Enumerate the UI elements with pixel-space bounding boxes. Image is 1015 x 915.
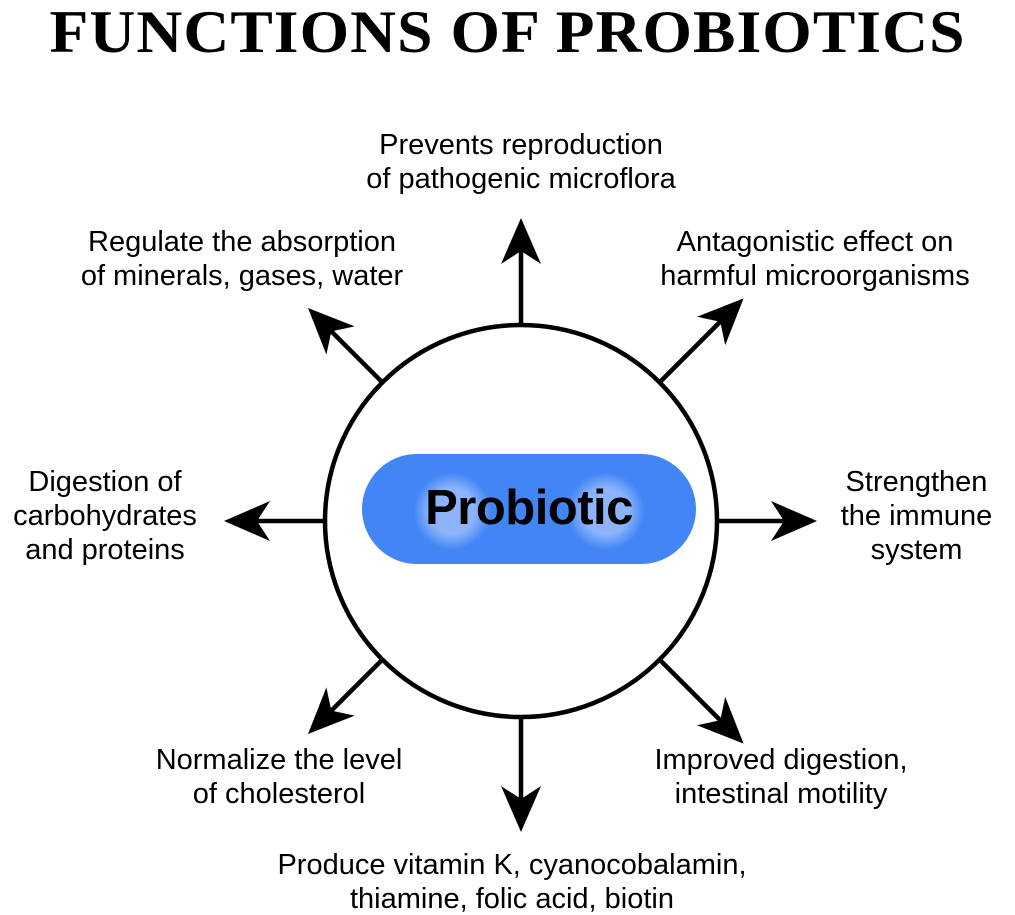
arrow-right xyxy=(717,501,817,541)
label-digestion-carbohydrates-proteins: Digestion of carbohydrates and proteins xyxy=(0,466,210,568)
label-improved-digestion: Improved digestion, intestinal motility xyxy=(611,744,951,812)
arrow-bottom-left xyxy=(294,660,383,749)
label-produce-vitamins: Produce vitamin K, cyanocobalamin, thiam… xyxy=(232,849,792,915)
label-prevents-reproduction: Prevents reproduction of pathogenic micr… xyxy=(311,129,731,197)
arrow-top-right xyxy=(660,284,758,382)
infographic-canvas: FUNCTIONS OF PROBIOTICS xyxy=(0,0,1015,915)
label-antagonistic-effect: Antagonistic effect on harmful microorga… xyxy=(620,226,1010,294)
label-normalize-cholesterol: Normalize the level of cholesterol xyxy=(110,744,448,812)
arrow-top xyxy=(501,218,541,325)
arrow-top-left xyxy=(294,294,383,383)
label-strengthen-immune-system: Strengthen the immune system xyxy=(820,466,1013,568)
arrow-left xyxy=(224,501,325,541)
probiotic-capsule: Probiotic xyxy=(362,454,696,564)
label-regulate-absorption: Regulate the absorption of minerals, gas… xyxy=(42,226,442,294)
capsule-label: Probiotic xyxy=(362,454,696,564)
arrow-bottom xyxy=(501,717,541,832)
